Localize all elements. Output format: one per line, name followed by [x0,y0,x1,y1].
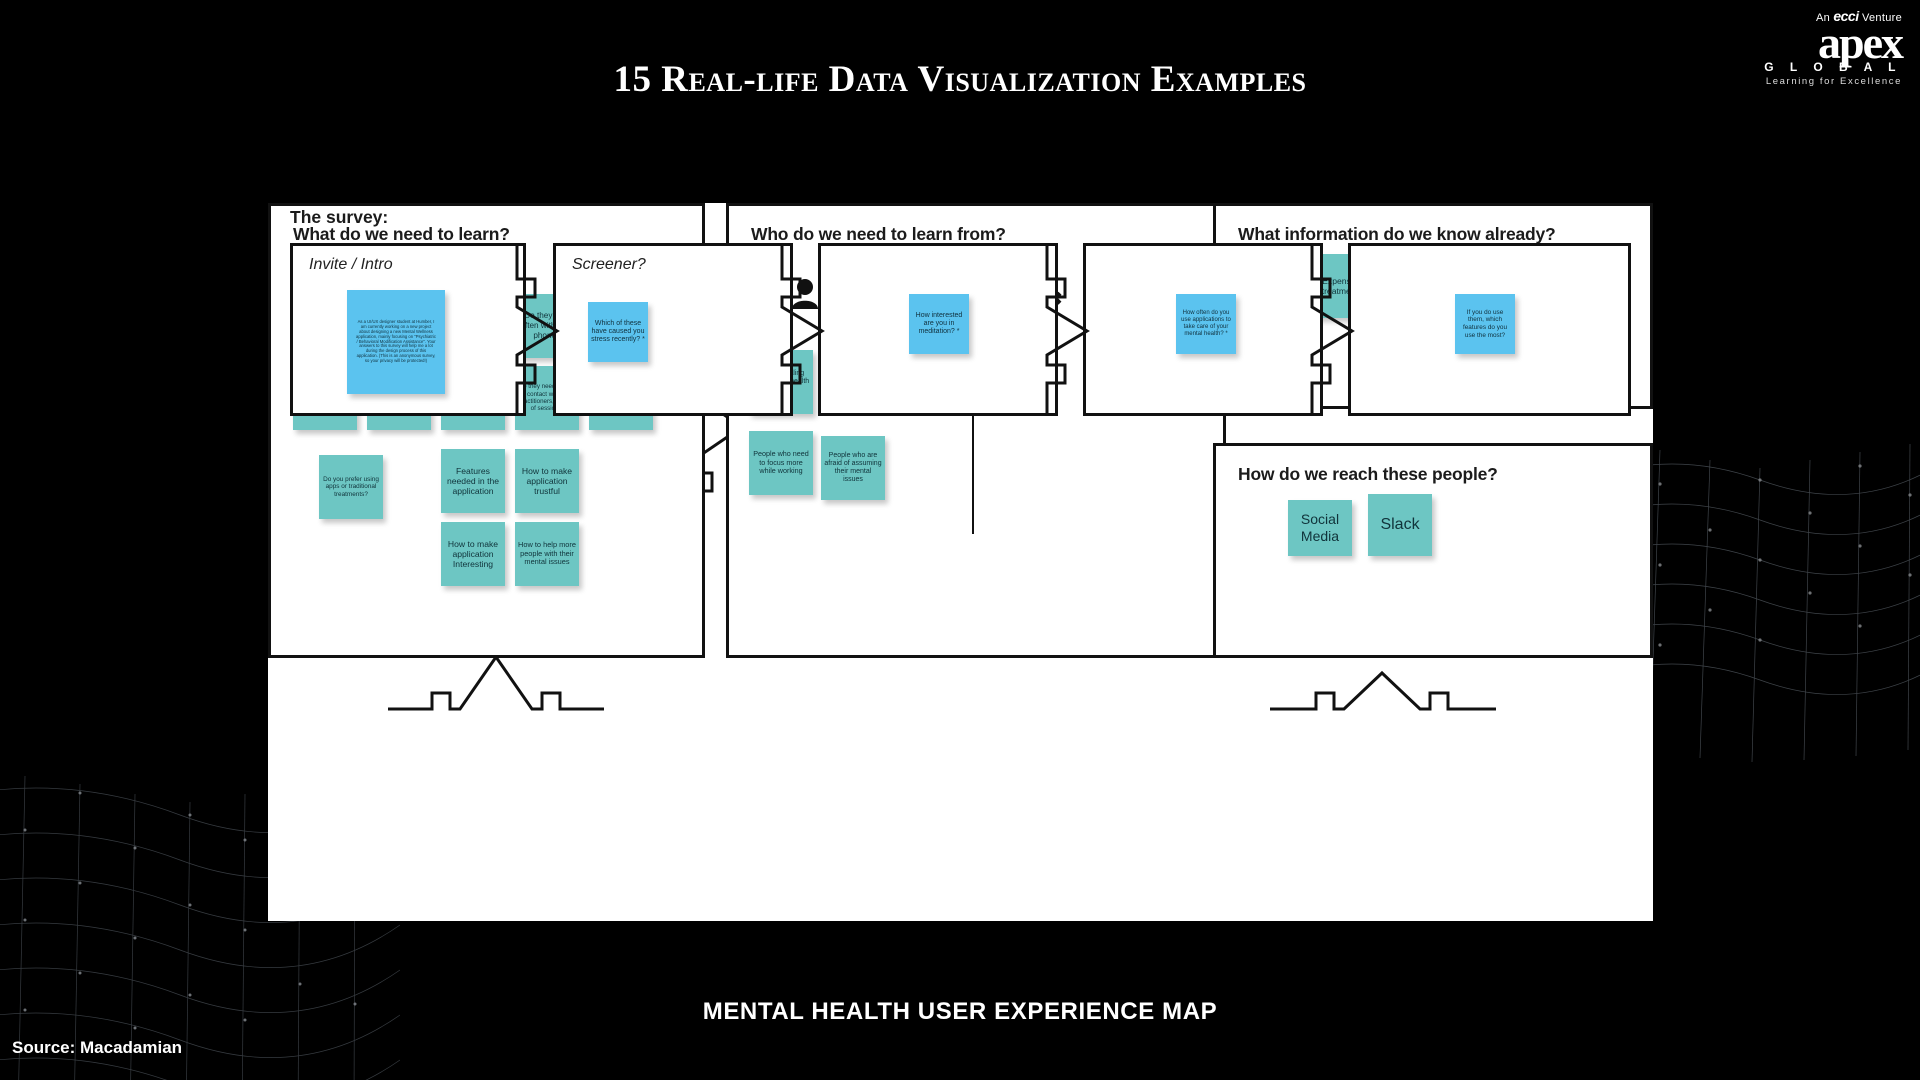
survey-step-3: How interested are you in meditation? * [818,243,1058,416]
panel-know-header: What information do we know already? [1238,224,1636,245]
note-learn-r3-2[interactable]: Features needed in the application [441,449,505,513]
experience-map-figure: What do we need to learn? Start here. Do… [268,203,1653,921]
panel-reach-title: How do we reach these people? [1238,464,1636,485]
logo-wordmark: apex [1672,22,1902,64]
connector-reach-to-survey [1268,651,1498,729]
note-from-4[interactable]: People who are afraid of assuming their … [821,436,885,500]
survey-connector-4 [1310,243,1358,418]
figure-caption: MENTAL HEALTH USER EXPERIENCE MAP [0,998,1920,1026]
panel-reach-header: How do we reach these people? [1238,464,1636,485]
panel-from-title: Who do we need to learn from? [751,224,1209,245]
note-learn-r4-2[interactable]: How to help more people with their menta… [515,522,579,586]
panel-from-header: Who do we need to learn from? [751,224,1209,245]
survey-step-invite-intro: Invite / Intro As a UI/UX designer stude… [290,243,526,416]
survey-step-4: How often do you use applications to tak… [1083,243,1323,416]
survey-title: The survey: [290,207,388,228]
note-survey-meditation[interactable]: How interested are you in meditation? * [909,294,969,354]
note-survey-features[interactable]: If you do use them, which features do yo… [1455,294,1515,354]
survey-connector-2 [780,243,828,418]
survey-step-label-2: Screener? [572,256,646,274]
survey-connector-3 [1045,243,1093,418]
note-learn-r4-1[interactable]: How to make application Interesting [441,522,505,586]
survey-step-screener: Screener? Which of these have caused you… [553,243,793,416]
source-credit: Source: Macadamian [12,1038,182,1058]
note-from-3[interactable]: People who need to focus more while work… [749,431,813,495]
apex-global-logo: An ecci Venture apex G L O B A L Learnin… [1672,8,1902,87]
note-learn-r3-3[interactable]: How to make application trustful [515,449,579,513]
page-title: 15 Real-life Data Visualization Examples [0,58,1920,101]
logo-tagline: Learning for Excellence [1672,76,1902,87]
survey-step-label-1: Invite / Intro [309,256,393,274]
panel-reach-people: How do we reach these people? Social Med… [1213,443,1653,658]
logo-global-text: G L O B A L [1672,60,1902,74]
note-reach-2[interactable]: Slack [1368,494,1432,556]
note-reach-1[interactable]: Social Media [1288,500,1352,556]
note-survey-frequency[interactable]: How often do you use applications to tak… [1176,294,1236,354]
connector-learn-to-survey [386,651,606,713]
note-learn-r3-1[interactable]: Do you prefer using apps or traditional … [319,455,383,519]
survey-connector-1 [515,243,563,418]
panel-know-title: What information do we know already? [1238,224,1636,245]
note-survey-screener[interactable]: Which of these have caused you stress re… [588,302,648,362]
slide-root: 15 Real-life Data Visualization Examples… [0,0,1920,1080]
survey-step-5: If you do use them, which features do yo… [1348,243,1631,416]
note-survey-intro[interactable]: As a UI/UX designer student at Humber, I… [347,290,445,394]
